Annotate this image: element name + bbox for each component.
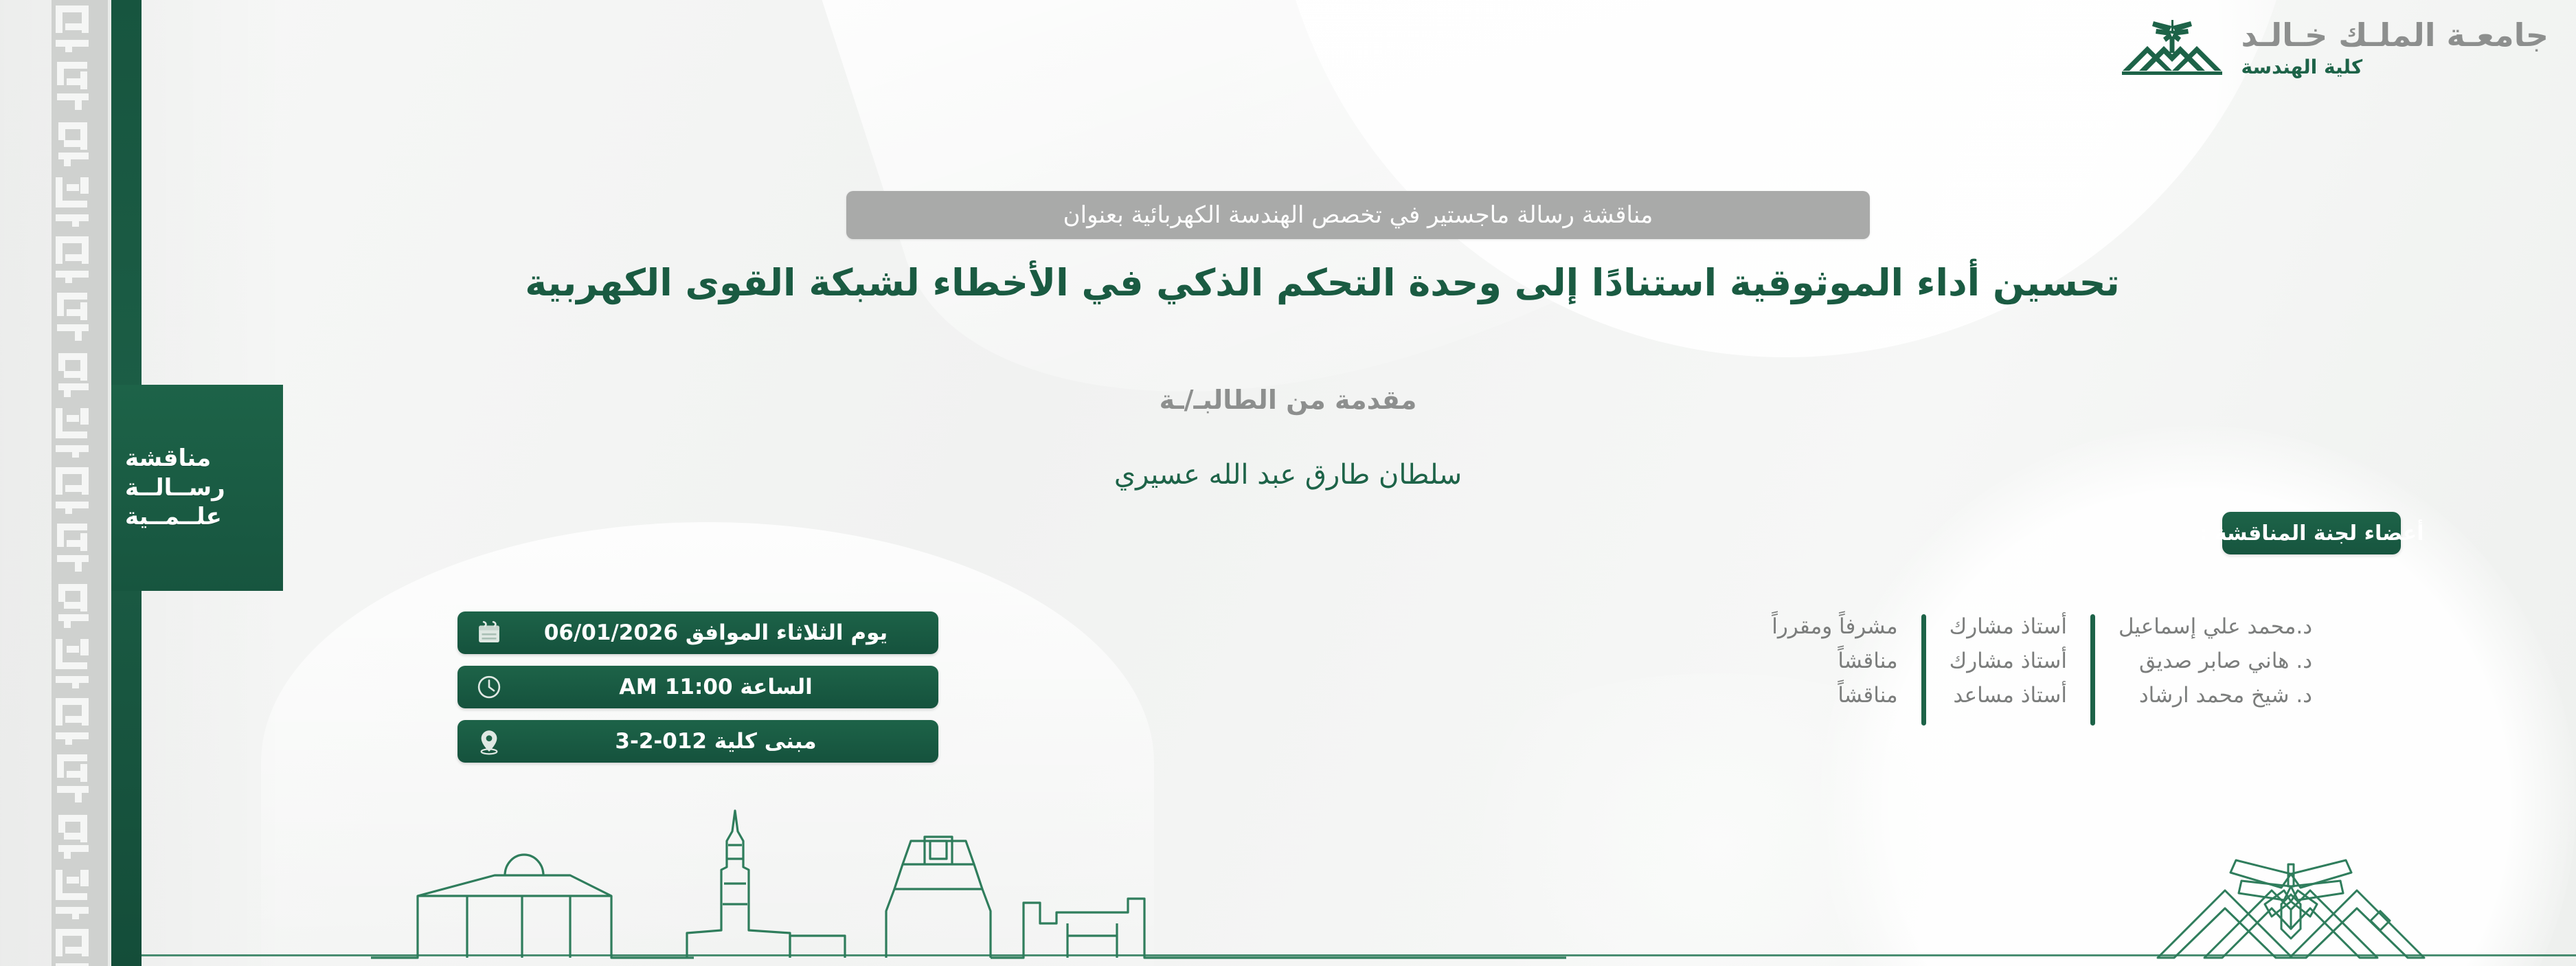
banner-text: مناقشة رسالة ماجستير في تخصص الهندسة الك… — [1063, 201, 1653, 229]
sidebar-label-line-1: مناقشة — [125, 446, 211, 471]
kufic-pattern-cell — [52, 231, 108, 289]
university-name: جامعـة الملـك خـالـد — [2241, 19, 2549, 51]
student-label: مقدمة من الطالبـ/ـة — [0, 385, 2576, 415]
university-logo: جامعـة الملـك خـالـد كلية الهندسة — [2121, 7, 2549, 89]
committee-divider-2 — [1921, 614, 1926, 726]
committee-heading-text: أعضاء لجنة المناقشة : — [2199, 521, 2424, 546]
time-pill: الساعة 11:00 AM — [457, 666, 938, 708]
event-info-pills: يوم الثلاثاء الموافق 06/01/2026 الساعة 1… — [457, 611, 938, 763]
kufic-pattern-cell — [52, 635, 108, 693]
date-text: يوم الثلاثاء الموافق 06/01/2026 — [507, 620, 925, 645]
kufic-pattern-cell — [52, 519, 108, 577]
committee-member-name: د. شيخ محمد ارشاد — [2119, 680, 2312, 712]
committee-member-rank: أستاذ مشارك — [1950, 611, 2067, 643]
kufic-pattern-cell — [52, 0, 108, 58]
student-name-text: سلطان طارق عبد الله عسيري — [1114, 459, 1462, 491]
kku-palm-emblem-icon — [2121, 16, 2224, 80]
location-pill: مبنى كلية 012-2-3 — [457, 720, 938, 763]
student-name: سلطان طارق عبد الله عسيري — [0, 459, 2576, 491]
location-pin-icon — [471, 723, 507, 759]
defense-banner: مناقشة رسالة ماجستير في تخصص الهندسة الك… — [846, 191, 1870, 239]
kufic-pattern-cell — [52, 173, 108, 231]
committee-member-rank: أستاذ مشارك — [1950, 646, 2067, 677]
page-title: تحسين أداء الموثوقية استنادًا إلى وحدة ا… — [206, 260, 2439, 306]
kufic-pattern-cell — [52, 577, 108, 635]
student-label-text: مقدمة من الطالبـ/ـة — [1160, 385, 1417, 415]
kufic-pattern-cell — [52, 115, 108, 173]
committee-member-role: مناقشاً — [1772, 680, 1897, 712]
committee-names-column: د.محمد علي إسماعيلد. هاني صابر صديقد. شي… — [2095, 611, 2336, 712]
committee-member-rank: أستاذ مساعد — [1950, 680, 2067, 712]
date-pill: يوم الثلاثاء الموافق 06/01/2026 — [457, 611, 938, 654]
college-name: كلية الهندسة — [2241, 58, 2363, 77]
kufic-pattern-cell — [52, 289, 108, 346]
committee-member-role: مناقشاً — [1772, 646, 1897, 677]
kufic-pattern-cell — [52, 58, 108, 115]
thesis-title: تحسين أداء الموثوقية استنادًا إلى وحدة ا… — [525, 261, 2120, 304]
kufic-pattern-cell — [52, 923, 108, 966]
sidebar-label-line-3: علــمــية — [125, 504, 222, 530]
location-text: مبنى كلية 012-2-3 — [507, 729, 925, 754]
committee-member-name: د.محمد علي إسماعيل — [2119, 611, 2312, 643]
time-text: الساعة 11:00 AM — [507, 675, 925, 699]
sidebar-label-line-2: رســالــة — [125, 475, 225, 501]
kufic-pattern-cell — [52, 866, 108, 923]
kufic-pattern-cell — [52, 808, 108, 866]
calendar-icon — [471, 615, 507, 651]
kufic-pattern-cell — [52, 750, 108, 808]
kku-palm-emblem-outline-icon — [2154, 845, 2428, 962]
committee-roles-column: مشرفاً ومقرراًمناقشاًمناقشاً — [1748, 611, 1921, 712]
committee-divider-1 — [2090, 614, 2095, 726]
committee-table: د.محمد علي إسماعيلد. هاني صابر صديقد. شي… — [1748, 611, 2336, 726]
committee-member-role: مشرفاً ومقرراً — [1772, 611, 1897, 643]
bottom-baseline — [142, 954, 2576, 956]
kufic-pattern-cell — [52, 693, 108, 750]
thesis-defense-poster: مناقشة رســالــة علــمــية جامعـة الملـك… — [0, 0, 2576, 966]
city-skyline-illustration — [364, 801, 1573, 966]
committee-ranks-column: أستاذ مشاركأستاذ مشاركأستاذ مساعد — [1926, 611, 2090, 712]
logo-text-block: جامعـة الملـك خـالـد كلية الهندسة — [2241, 19, 2549, 77]
committee-heading-badge: أعضاء لجنة المناقشة : — [2222, 512, 2401, 554]
committee-member-name: د. هاني صابر صديق — [2119, 646, 2312, 677]
clock-icon — [471, 669, 507, 705]
sidebar-vertical-label: مناقشة رســالــة علــمــية — [125, 426, 269, 550]
